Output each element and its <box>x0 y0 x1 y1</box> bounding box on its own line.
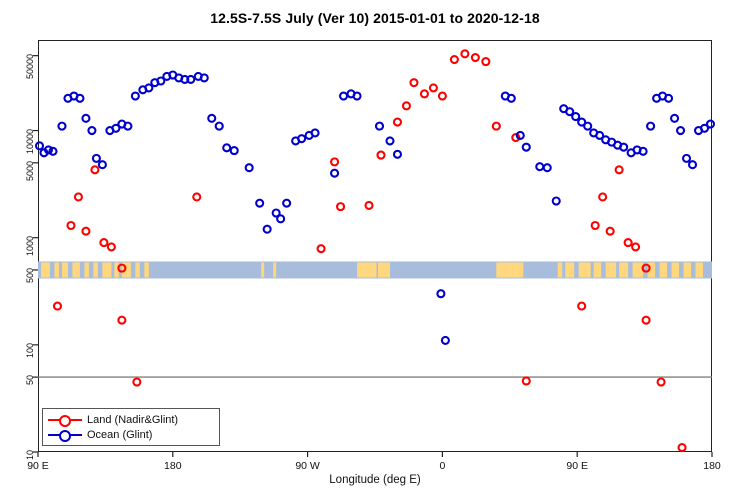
y-tick-label: 500 <box>0 263 30 273</box>
data-point <box>337 203 344 210</box>
data-point <box>54 303 61 310</box>
data-point <box>75 193 82 200</box>
data-point <box>640 148 647 155</box>
data-point <box>82 115 89 122</box>
data-point <box>647 123 654 130</box>
data-point <box>607 228 614 235</box>
data-point <box>264 226 271 233</box>
data-point <box>430 84 437 91</box>
data-point <box>193 193 200 200</box>
data-point <box>100 239 107 246</box>
data-point <box>91 166 98 173</box>
data-point <box>671 115 678 122</box>
data-point <box>523 144 530 151</box>
data-point <box>472 54 479 61</box>
data-point <box>231 147 238 154</box>
data-point <box>523 377 530 384</box>
data-point <box>616 166 623 173</box>
data-point <box>578 303 585 310</box>
data-point <box>536 163 543 170</box>
data-point <box>437 290 444 297</box>
land-ocean-map-band <box>38 261 712 278</box>
data-point <box>572 113 579 120</box>
y-tick-label: 10000 <box>0 124 30 134</box>
data-point <box>49 148 56 155</box>
data-point <box>223 144 230 151</box>
data-point <box>331 158 338 165</box>
data-point <box>442 337 449 344</box>
data-point <box>340 93 347 100</box>
data-point <box>461 50 468 57</box>
y-tick-label: 100 <box>0 338 30 348</box>
data-point <box>482 58 489 65</box>
data-point <box>58 123 65 130</box>
data-point <box>312 129 319 136</box>
legend-item-land: Land (Nadir&Glint) <box>48 412 214 427</box>
scatter-plot-figure: 12.5S-7.5S July (Ver 10) 2015-01-01 to 2… <box>0 0 750 500</box>
data-point <box>36 142 43 149</box>
legend-label-land: Land (Nadir&Glint) <box>87 414 178 426</box>
data-point <box>403 102 410 109</box>
data-point <box>683 155 690 162</box>
data-point <box>67 222 74 229</box>
legend-item-ocean: Ocean (Glint) <box>48 427 214 442</box>
data-point <box>208 115 215 122</box>
data-point <box>592 222 599 229</box>
x-tick-label: 0 <box>412 460 472 472</box>
data-point <box>625 239 632 246</box>
data-point <box>93 155 100 162</box>
data-point <box>553 198 560 205</box>
data-point <box>707 121 714 128</box>
data-point <box>386 137 393 144</box>
legend: Land (Nadir&Glint) Ocean (Glint) <box>42 408 220 446</box>
data-point <box>584 123 591 130</box>
data-point <box>376 123 383 130</box>
data-point <box>318 245 325 252</box>
data-point <box>451 56 458 63</box>
x-tick-label: 180 <box>682 460 742 472</box>
y-tick-label: 5000 <box>0 156 30 166</box>
y-tick-label: 50 <box>0 370 30 380</box>
data-point <box>508 95 515 102</box>
data-point <box>354 93 361 100</box>
data-point <box>394 119 401 126</box>
x-tick-label: 90 E <box>8 460 68 472</box>
data-point <box>133 379 140 386</box>
data-point <box>82 228 89 235</box>
series-land <box>54 50 686 451</box>
data-point <box>283 200 290 207</box>
data-point <box>99 161 106 168</box>
data-point <box>620 144 627 151</box>
data-point <box>132 93 139 100</box>
data-point <box>298 135 305 142</box>
data-point <box>256 200 263 207</box>
data-point <box>118 317 125 324</box>
data-point <box>439 93 446 100</box>
x-tick-label: 180 <box>143 460 203 472</box>
data-point <box>410 79 417 86</box>
data-point <box>658 379 665 386</box>
data-point <box>108 243 115 250</box>
data-point <box>366 202 373 209</box>
data-point <box>421 90 428 97</box>
data-point <box>277 215 284 222</box>
data-point <box>246 164 253 171</box>
x-tick-label: 90 W <box>278 460 338 472</box>
data-point <box>689 161 696 168</box>
data-point <box>88 127 95 134</box>
data-point <box>632 243 639 250</box>
data-point <box>599 193 606 200</box>
axis-ticks <box>33 56 712 457</box>
data-point <box>394 151 401 158</box>
data-point <box>544 164 551 171</box>
legend-marker-land <box>48 413 82 426</box>
data-point <box>493 123 500 130</box>
legend-label-ocean: Ocean (Glint) <box>87 429 152 441</box>
data-point <box>216 123 223 130</box>
y-tick-label: 50000 <box>0 49 30 59</box>
y-tick-label: 1000 <box>0 231 30 241</box>
x-tick-label: 90 E <box>547 460 607 472</box>
data-point <box>679 444 686 451</box>
data-point <box>643 317 650 324</box>
series-ocean <box>36 71 714 343</box>
data-point <box>665 95 672 102</box>
data-point <box>377 152 384 159</box>
legend-marker-ocean <box>48 428 82 441</box>
data-point <box>331 170 338 177</box>
y-tick-label: 10 <box>0 445 30 455</box>
data-point <box>677 127 684 134</box>
